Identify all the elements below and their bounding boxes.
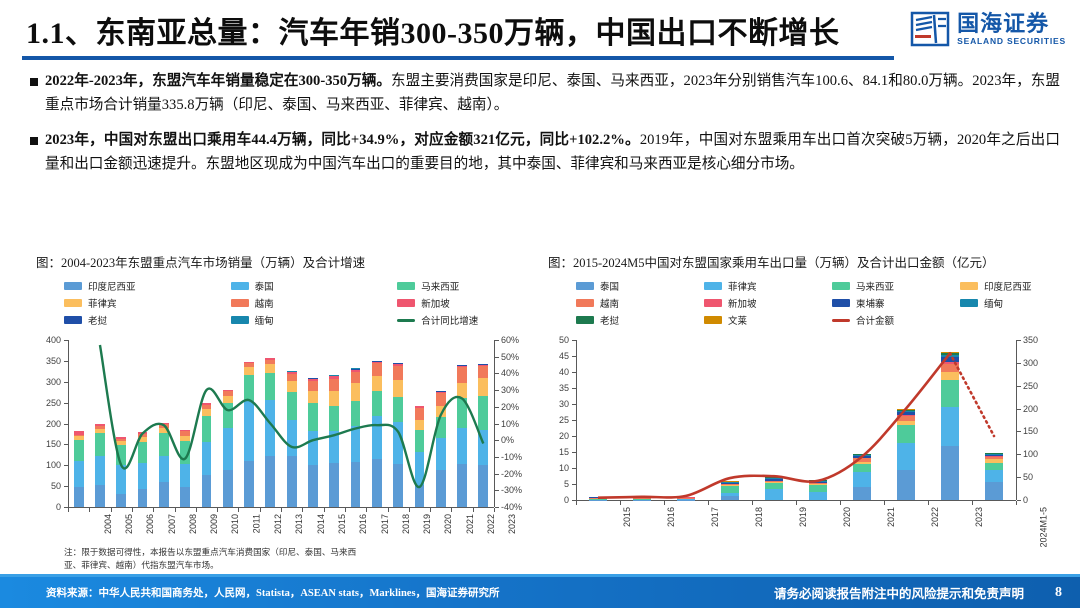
bar-segment: [308, 465, 318, 507]
x-axis-tick: [153, 508, 154, 512]
legend-item: 泰国: [203, 279, 370, 293]
legend-label: 越南: [600, 296, 619, 310]
stacked-bar[interactable]: [478, 364, 488, 507]
x-axis-tick-label: 2017: [710, 507, 720, 527]
stacked-bar[interactable]: [308, 378, 318, 507]
bar-segment: [74, 487, 84, 507]
x-axis-tick-label: 2016: [666, 507, 676, 527]
x-axis-tick: [324, 508, 325, 512]
bar-segment: [372, 376, 382, 391]
stacked-bar[interactable]: [809, 480, 827, 500]
bar-segment: [265, 373, 275, 401]
x-axis-tick-label: 2010: [230, 514, 240, 534]
bar-segment: [941, 364, 959, 372]
bar-segment: [393, 422, 403, 464]
bar-segment: [329, 379, 339, 392]
chart-panel-left: 图：2004-2023年东盟重点汽车市场销量（万辆）及合计增速 印度尼西亚泰国马…: [36, 252, 536, 549]
stacked-bar[interactable]: [589, 497, 607, 500]
stacked-bar[interactable]: [287, 371, 297, 507]
x-axis-tick: [972, 501, 973, 505]
bar-segment: [457, 367, 467, 384]
bar-segment: [223, 470, 233, 507]
bar-segment: [457, 428, 467, 463]
bar-segment: [457, 398, 467, 428]
bar-segment: [74, 440, 84, 460]
bar-segment: [265, 364, 275, 373]
stacked-bar[interactable]: [985, 453, 1003, 500]
chart-panel-right: 图：2015-2024M5中国对东盟国家乘用车出口量（万辆）及合计出口金额（亿元…: [548, 252, 1060, 542]
x-axis-tick-label: 2015: [622, 507, 632, 527]
bar-segment: [765, 489, 783, 500]
x-axis-tick-label: 2021: [886, 507, 896, 527]
bullet-bold-text: 2022年-2023年，东盟汽车年销量稳定在300-350万辆。: [45, 73, 391, 89]
bar-segment: [329, 391, 339, 406]
legend-label: 缅甸: [255, 313, 274, 327]
bar-segment: [223, 428, 233, 470]
bullet-text: 2022年-2023年，东盟汽车年销量稳定在300-350万辆。东盟主要消费国家…: [45, 70, 1060, 117]
chart-title-right: 图：2015-2024M5中国对东盟国家乘用车出口量（万辆）及合计出口金额（亿元…: [548, 252, 1060, 271]
stacked-bar[interactable]: [180, 430, 190, 507]
stacked-bar[interactable]: [372, 361, 382, 507]
x-axis-tick-label: 2018: [754, 507, 764, 527]
legend-label: 马来西亚: [421, 279, 459, 293]
company-logo: 国海证券 SEALAND SECURITIES: [910, 10, 1066, 48]
x-axis-tick-label: 2021: [465, 514, 475, 534]
bar-segment: [202, 475, 212, 507]
bar-segment: [809, 485, 827, 492]
bullet-item: 2023年，中国对东盟出口乘用车44.4万辆，同比+34.9%，对应金额321亿…: [30, 129, 1060, 176]
stacked-bar[interactable]: [244, 362, 254, 507]
bar-segment: [329, 431, 339, 463]
x-axis-tick-label: 2023: [507, 514, 517, 534]
legend-label: 新加坡: [728, 296, 757, 310]
legend-label: 文莱: [728, 313, 747, 327]
legend-item: 缅甸: [203, 313, 370, 327]
legend-color-swatch: [576, 316, 594, 324]
bar-segment: [985, 482, 1003, 500]
legend-item: 柬埔寨: [804, 296, 932, 310]
x-axis-tick: [576, 501, 577, 505]
bar-segment: [95, 433, 105, 456]
footer-source: 资料来源：中华人民共和国商务处，人民网，Statista，ASEAN stats…: [46, 585, 500, 600]
bar-segment: [415, 485, 425, 507]
bar-segment: [287, 392, 297, 420]
bar-segment: [457, 464, 467, 507]
legend-item: 新加坡: [676, 296, 804, 310]
bar-segment: [329, 463, 339, 507]
legend-color-swatch: [704, 299, 722, 307]
bar-segment: [478, 378, 488, 396]
legend-line-swatch: [397, 319, 415, 322]
legend-item: 菲律宾: [36, 296, 203, 310]
stacked-bar[interactable]: [633, 496, 651, 500]
bar-segment: [329, 406, 339, 430]
x-axis-tick-label: 2015: [337, 514, 347, 534]
bar-segment: [223, 396, 233, 403]
x-axis-tick-label: 2008: [188, 514, 198, 534]
stacked-bar[interactable]: [941, 352, 959, 500]
bar-segment: [95, 485, 105, 507]
bar-segment: [853, 464, 871, 473]
stacked-bar[interactable]: [265, 358, 275, 507]
x-axis-tick-label: 2011: [251, 514, 261, 533]
bar-segment: [372, 416, 382, 459]
legend-label: 马来西亚: [856, 279, 894, 293]
bullet-text: 2023年，中国对东盟出口乘用车44.4万辆，同比+34.9%，对应金额321亿…: [45, 129, 1060, 176]
bar-segment: [116, 465, 126, 493]
slide-header: 1.1、东南亚总量：汽车年销300-350万辆，中国出口不断增长 国海证券 SE…: [0, 0, 1080, 62]
bar-segment: [897, 425, 915, 444]
legend-item: 菲律宾: [676, 279, 804, 293]
stacked-bar[interactable]: [159, 423, 169, 507]
bullet-square-icon: [30, 137, 38, 145]
bar-segment: [415, 452, 425, 485]
x-axis-tick: [217, 508, 218, 512]
bar-segment: [941, 446, 959, 500]
bar-segment: [244, 375, 254, 401]
stacked-bar[interactable]: [202, 403, 212, 507]
bar-segment: [457, 383, 467, 398]
x-axis-tick: [111, 508, 112, 512]
legend-color-swatch: [832, 299, 850, 307]
bar-segment: [116, 445, 126, 465]
x-axis-tick: [196, 508, 197, 512]
bar-segment: [351, 426, 361, 462]
legend-item: 文莱: [676, 313, 804, 327]
stacked-bar[interactable]: [329, 375, 339, 507]
slide-footer: 资料来源：中华人民共和国商务处，人民网，Statista，ASEAN stats…: [0, 577, 1080, 608]
x-axis-tick: [451, 508, 452, 512]
legend-color-swatch: [704, 316, 722, 324]
x-axis-tick-label: 2022: [930, 507, 940, 527]
bar-segment: [180, 464, 190, 487]
bar-segment: [393, 397, 403, 422]
x-axis-tick-label: 2013: [294, 514, 304, 534]
bar-segment: [985, 463, 1003, 470]
bar-segment: [223, 403, 233, 428]
x-axis-tick: [752, 501, 753, 505]
bar-segment: [202, 416, 212, 441]
chart-plot-left: 050100150200250300350400-40%-30%-20%-10%…: [36, 334, 536, 549]
stacked-bar[interactable]: [351, 368, 361, 507]
x-axis-tick: [473, 508, 474, 512]
bar-segment: [265, 400, 275, 456]
bar-segment: [351, 462, 361, 507]
logo-mark-icon: [910, 10, 950, 48]
bar-segment: [478, 366, 488, 379]
bullet-item: 2022年-2023年，东盟汽车年销量稳定在300-350万辆。东盟主要消费国家…: [30, 70, 1060, 117]
x-axis-tick: [840, 501, 841, 505]
stacked-bar[interactable]: [223, 390, 233, 507]
chart-plot-right: 0510152025303540455005010015020025030035…: [548, 334, 1060, 542]
bar-segment: [897, 443, 915, 469]
bar-segment: [351, 383, 361, 401]
legend-color-swatch: [704, 282, 722, 290]
legend-label: 印度尼西亚: [984, 279, 1032, 293]
legend-item: 印度尼西亚: [932, 279, 1060, 293]
chart-note: 注：限于数据可得性，本报告以东盟重点汽车消费国家（印尼、泰国、马来西亚、菲律宾、…: [64, 546, 364, 573]
x-axis-tick-label: 2020: [443, 514, 453, 534]
bar-segment: [478, 465, 488, 507]
legend-item: 泰国: [548, 279, 676, 293]
bar-segment: [138, 489, 148, 507]
x-axis-tick: [132, 508, 133, 512]
bar-segment: [138, 463, 148, 489]
bar-segment: [853, 472, 871, 487]
stacked-bar[interactable]: [95, 424, 105, 507]
bar-segment: [308, 381, 318, 391]
legend-label: 合计金额: [856, 313, 894, 327]
x-axis-tick-label: 2019: [798, 507, 808, 527]
x-axis-tick-label: 2009: [209, 514, 219, 534]
legend-label: 缅甸: [984, 296, 1003, 310]
bar-segment: [116, 494, 126, 507]
x-axis-tick: [796, 501, 797, 505]
bar-segment: [159, 482, 169, 507]
footer-warning: 请务必阅读报告附注中的风险提示和免责声明: [774, 583, 1024, 602]
legend-item: 马来西亚: [369, 279, 536, 293]
x-axis-tick: [664, 501, 665, 505]
bar-segment: [897, 470, 915, 500]
header-divider: [22, 56, 894, 60]
bar-segment: [436, 417, 446, 438]
bar-segment: [721, 496, 739, 500]
x-axis-tick: [89, 508, 90, 512]
legend-line-swatch: [832, 319, 850, 322]
page-title: 1.1、东南亚总量：汽车年销300-350万辆，中国出口不断增长: [26, 8, 840, 52]
stacked-bar[interactable]: [765, 477, 783, 500]
bar-segment: [202, 442, 212, 475]
bar-segment: [287, 381, 297, 392]
x-axis-tick-label: 2018: [401, 514, 411, 534]
bar-segment: [74, 461, 84, 487]
stacked-bar[interactable]: [721, 481, 739, 500]
x-axis-tick: [175, 508, 176, 512]
bar-segment: [393, 366, 403, 380]
legend-label: 菲律宾: [728, 279, 757, 293]
x-axis-tick: [928, 501, 929, 505]
bar-segment: [478, 430, 488, 465]
stacked-bar[interactable]: [74, 431, 84, 507]
bar-segment: [287, 420, 297, 457]
x-axis-tick: [345, 508, 346, 512]
slide: 1.1、东南亚总量：汽车年销300-350万辆，中国出口不断增长 国海证券 SE…: [0, 0, 1080, 608]
legend-label: 老挝: [600, 313, 619, 327]
bar-segment: [159, 456, 169, 482]
legend-color-swatch: [231, 316, 249, 324]
bullet-bold-text: 2023年，中国对东盟出口乘用车44.4万辆，同比+34.9%，对应金额321亿…: [45, 132, 640, 148]
legend-label: 泰国: [255, 279, 274, 293]
logo-text-en: SEALAND SECURITIES: [957, 36, 1066, 46]
stacked-bar[interactable]: [853, 454, 871, 500]
bullet-list: 2022年-2023年，东盟汽车年销量稳定在300-350万辆。东盟主要消费国家…: [30, 70, 1060, 189]
bar-segment: [138, 442, 148, 462]
x-axis-tick: [302, 508, 303, 512]
bar-segment: [287, 374, 297, 381]
legend-item: 合计金额: [804, 313, 932, 327]
stacked-bar[interactable]: [138, 432, 148, 507]
bar-segment: [436, 470, 446, 507]
bullet-square-icon: [30, 78, 38, 86]
legend-item: 老挝: [548, 313, 676, 327]
legend-label: 印度尼西亚: [88, 279, 136, 293]
bar-segment: [415, 420, 425, 430]
bar-segment: [351, 401, 361, 426]
x-axis-tick-label: 2014: [316, 514, 326, 534]
legend-color-swatch: [960, 282, 978, 290]
bar-segment: [809, 492, 827, 500]
legend-color-swatch: [960, 299, 978, 307]
stacked-bar[interactable]: [393, 363, 403, 507]
page-number: 8: [1055, 585, 1062, 601]
x-axis-tick-label: 2023: [974, 507, 984, 527]
legend-label: 泰国: [600, 279, 619, 293]
bar-segment: [202, 409, 212, 416]
x-axis-tick-label: 2020: [842, 507, 852, 527]
bar-segment: [180, 487, 190, 507]
legend-label: 合计同比增速: [421, 313, 478, 327]
bar-segment: [244, 401, 254, 461]
bar-segment: [308, 403, 318, 431]
legend-color-swatch: [64, 282, 82, 290]
x-axis-tick-label: 2012: [273, 514, 283, 534]
bar-segment: [436, 438, 446, 470]
x-axis-tick: [260, 508, 261, 512]
legend-item: 越南: [548, 296, 676, 310]
x-axis-tick-label: 2006: [145, 514, 155, 534]
x-axis-tick: [409, 508, 410, 512]
bar-segment: [308, 391, 318, 403]
chart-title-left: 图：2004-2023年东盟重点汽车市场销量（万辆）及合计增速: [36, 252, 536, 271]
stacked-bar[interactable]: [415, 406, 425, 507]
bar-segment: [308, 431, 318, 464]
bar-segment: [853, 487, 871, 500]
bar-segment: [415, 430, 425, 452]
legend-label: 菲律宾: [88, 296, 117, 310]
bar-segment: [351, 372, 361, 383]
x-axis-tick-label: 2007: [167, 514, 177, 534]
x-axis-tick-label: 2024M1-5: [1039, 507, 1049, 548]
bar-segment: [941, 407, 959, 445]
x-axis-tick: [238, 508, 239, 512]
x-axis-tick-label: 2022: [486, 514, 496, 534]
bar-segment: [941, 372, 959, 380]
x-axis-tick: [708, 501, 709, 505]
legend-color-swatch: [64, 299, 82, 307]
bar-segment: [180, 441, 190, 464]
x-axis-tick: [884, 501, 885, 505]
bar-segment: [265, 456, 275, 507]
stacked-bar[interactable]: [897, 409, 915, 500]
legend-item: 马来西亚: [804, 279, 932, 293]
bar-segment: [478, 396, 488, 429]
x-axis-tick-label: 2016: [358, 514, 368, 534]
x-axis-tick: [494, 508, 495, 512]
bar-segment: [436, 406, 446, 417]
chart-legend-left: 印度尼西亚泰国马来西亚菲律宾越南新加坡老挝缅甸合计同比增速: [36, 279, 536, 330]
legend-color-swatch: [576, 299, 594, 307]
x-axis-tick: [620, 501, 621, 505]
legend-item: 越南: [203, 296, 370, 310]
stacked-bar[interactable]: [116, 437, 126, 507]
legend-color-swatch: [832, 282, 850, 290]
x-axis-tick-label: 2004: [103, 514, 113, 534]
legend-item: 合计同比增速: [369, 313, 536, 327]
legend-label: 越南: [255, 296, 274, 310]
stacked-bar[interactable]: [436, 391, 446, 507]
bar-segment: [95, 456, 105, 485]
legend-item: 缅甸: [932, 296, 1060, 310]
x-axis-tick-label: 2017: [380, 514, 390, 534]
legend-label: 老挝: [88, 313, 107, 327]
stacked-bar[interactable]: [677, 497, 695, 500]
bar-segment: [985, 470, 1003, 482]
x-axis-tick: [1016, 501, 1017, 505]
x-axis-tick: [388, 508, 389, 512]
x-axis-tick: [68, 508, 69, 512]
legend-color-swatch: [231, 282, 249, 290]
bar-segment: [393, 464, 403, 507]
chart-legend-right: 泰国菲律宾马来西亚印度尼西亚越南新加坡柬埔寨缅甸老挝文莱合计金额: [548, 279, 1060, 330]
bar-segment: [721, 486, 739, 493]
legend-label: 新加坡: [421, 296, 450, 310]
legend-item: 印度尼西亚: [36, 279, 203, 293]
bar-segment: [941, 380, 959, 407]
bar-segment: [372, 391, 382, 416]
x-axis-tick-label: 2019: [422, 514, 432, 534]
x-axis-tick: [281, 508, 282, 512]
x-axis-tick-label: 2005: [124, 514, 134, 534]
legend-color-swatch: [397, 282, 415, 290]
stacked-bar[interactable]: [457, 365, 467, 507]
x-axis-tick: [366, 508, 367, 512]
bar-segment: [244, 461, 254, 507]
legend-color-swatch: [397, 299, 415, 307]
x-axis-tick: [430, 508, 431, 512]
bar-segment: [393, 380, 403, 398]
legend-label: 柬埔寨: [856, 296, 885, 310]
legend-color-swatch: [64, 316, 82, 324]
bar-segment: [287, 456, 297, 507]
bar-segment: [244, 367, 254, 375]
bar-segment: [159, 433, 169, 456]
legend-color-swatch: [231, 299, 249, 307]
bar-segment: [415, 408, 425, 420]
logo-text-cn: 国海证券: [957, 12, 1066, 35]
bar-segment: [372, 459, 382, 507]
bar-segment: [372, 363, 382, 375]
legend-item: 老挝: [36, 313, 203, 327]
bar-segment: [436, 393, 446, 406]
legend-color-swatch: [576, 282, 594, 290]
legend-item: 新加坡: [369, 296, 536, 310]
